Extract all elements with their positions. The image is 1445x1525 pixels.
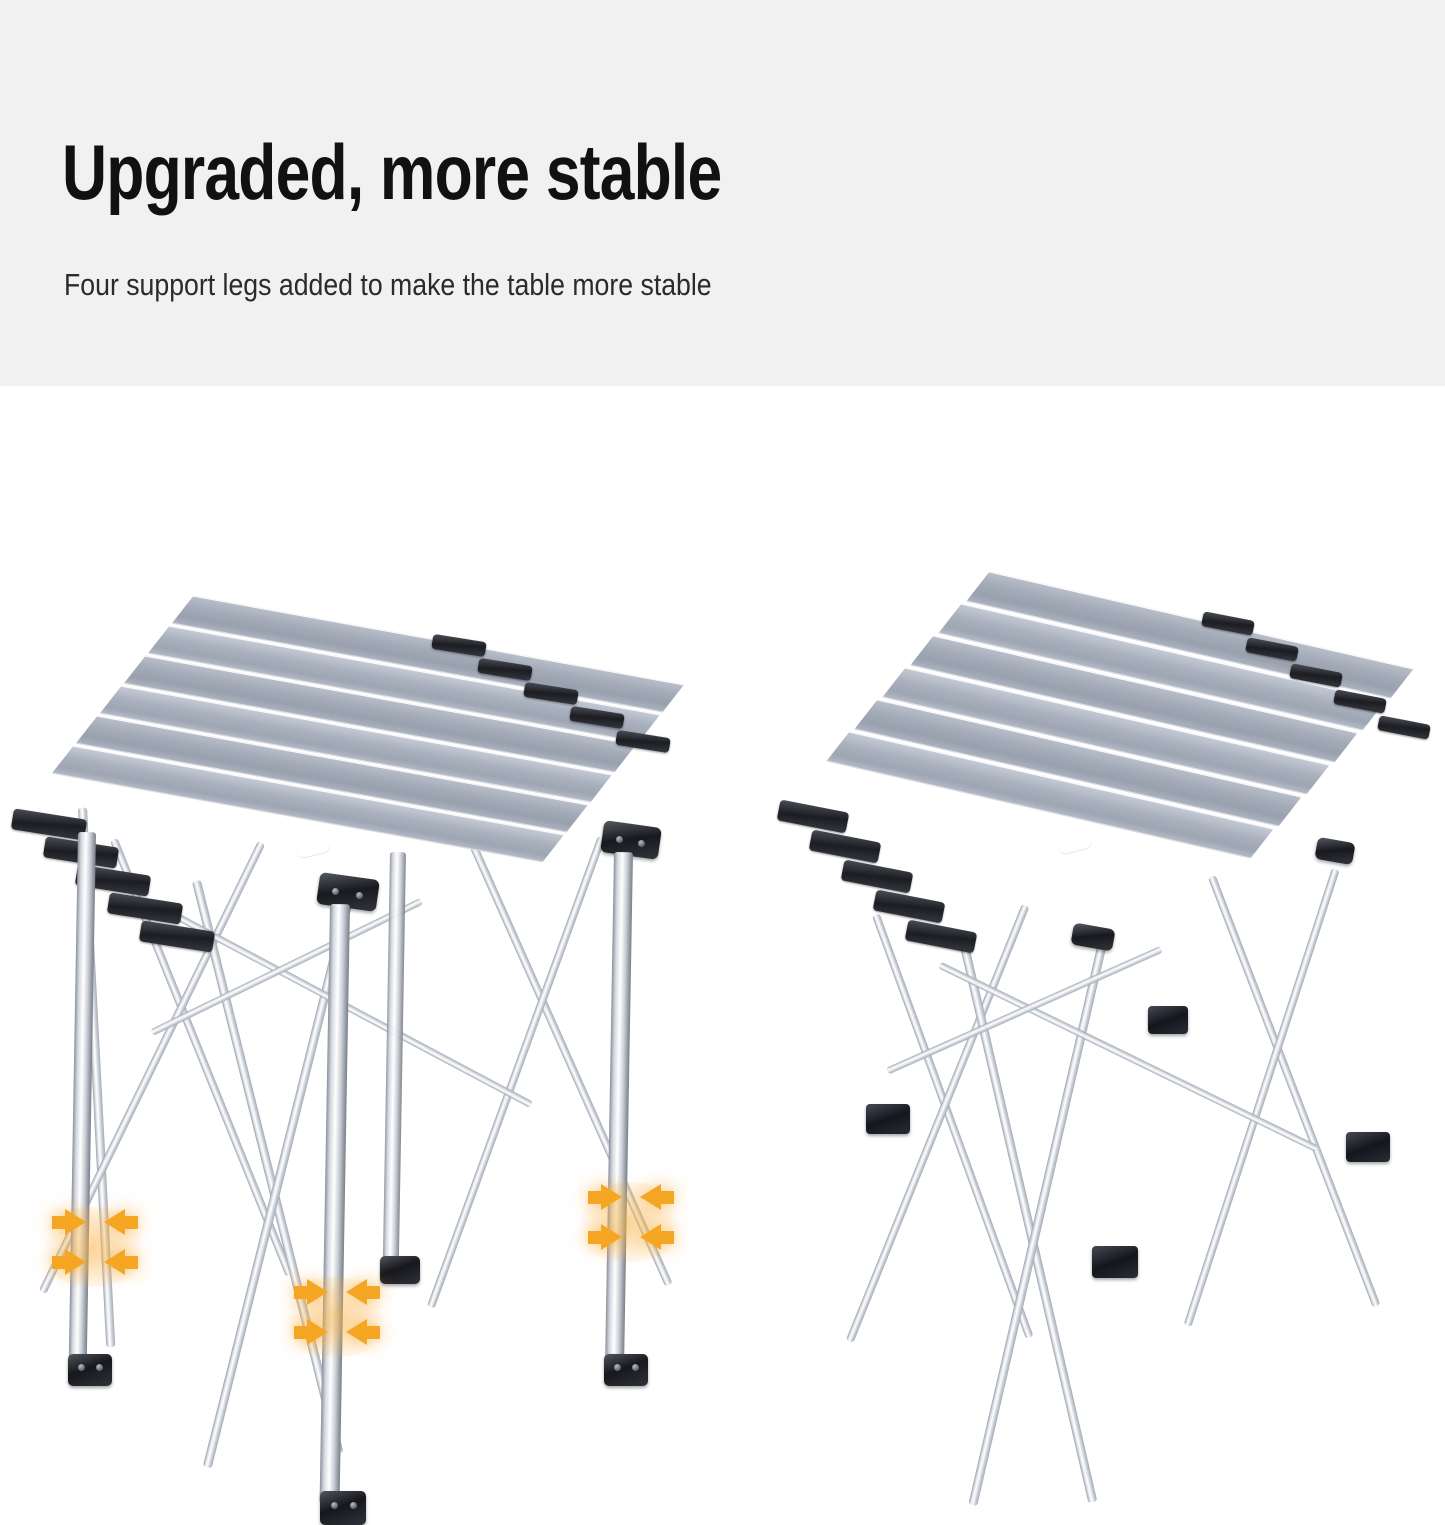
brand-logo-icon: [295, 838, 331, 860]
leg-foot-cap: [68, 1354, 112, 1386]
arrow-left-icon: [367, 1286, 380, 1299]
arrow-left-icon: [367, 1326, 380, 1339]
arrow-left-icon: [640, 1224, 661, 1250]
bracket-rivet: [356, 892, 363, 899]
foot-rivet: [331, 1502, 338, 1509]
slat-endcap: [809, 830, 882, 864]
leg-foot-cap: [604, 1354, 648, 1386]
bracket-rivet: [638, 840, 645, 847]
arrow-left-icon: [640, 1184, 661, 1210]
slat-endcap: [11, 808, 87, 840]
brand-logo-icon: [1057, 834, 1093, 856]
frame-tube: [958, 936, 1097, 1503]
slat-endcap: [1377, 715, 1431, 740]
arrow-left-icon: [346, 1319, 367, 1345]
frame-joint-cap: [1148, 1006, 1188, 1034]
arrow-right-icon: [601, 1184, 622, 1210]
leg-foot-cap: [866, 1104, 910, 1134]
arrow-right-icon: [65, 1249, 86, 1275]
arrow-cluster-left-leg: [30, 1201, 150, 1291]
arrow-right-icon: [52, 1256, 65, 1269]
vertical-support-leg: [605, 852, 633, 1362]
arrow-right-icon: [588, 1231, 601, 1244]
leg-foot-cap: [1346, 1132, 1390, 1162]
arrow-left-icon: [104, 1209, 125, 1235]
slat-endcap: [873, 890, 946, 924]
bracket-rivet: [616, 836, 623, 843]
slat-endcap: [777, 800, 850, 834]
arrow-cluster-center-leg: [272, 1271, 392, 1361]
foot-rivet: [78, 1364, 85, 1371]
foot-rivet: [614, 1364, 621, 1371]
arrow-left-icon: [104, 1249, 125, 1275]
arrow-cluster-right-leg: [566, 1176, 686, 1266]
bracket-rivet: [332, 888, 339, 895]
product-image-upgraded: [0, 636, 730, 1276]
arrow-right-icon: [601, 1224, 622, 1250]
frame-strut: [938, 962, 1319, 1152]
arrow-left-icon: [661, 1231, 674, 1244]
arrow-left-icon: [125, 1216, 138, 1229]
product-comparison-stage: [0, 386, 1445, 1275]
arrow-left-icon: [346, 1279, 367, 1305]
arrow-right-icon: [307, 1319, 328, 1345]
foot-rivet: [632, 1364, 639, 1371]
slat-endcap: [905, 920, 978, 954]
page-headline: Upgraded, more stable: [62, 130, 721, 214]
leg-foot-cap: [320, 1491, 366, 1525]
arrow-left-icon: [125, 1256, 138, 1269]
frame-hinge-bracket: [1070, 923, 1115, 952]
slat-endcap: [841, 860, 914, 894]
arrow-right-icon: [65, 1209, 86, 1235]
foot-rivet: [350, 1502, 357, 1509]
frame-strut: [150, 898, 423, 1036]
header-band: Upgraded, more stable Four support legs …: [0, 0, 1445, 386]
foot-rivet: [96, 1364, 103, 1371]
arrow-right-icon: [294, 1326, 307, 1339]
arrow-right-icon: [588, 1191, 601, 1204]
arrow-left-icon: [661, 1191, 674, 1204]
page-subheadline: Four support legs added to make the tabl…: [64, 266, 712, 304]
leg-foot-cap: [1092, 1246, 1138, 1278]
arrow-right-icon: [52, 1216, 65, 1229]
arrow-right-icon: [294, 1286, 307, 1299]
arrow-right-icon: [307, 1279, 328, 1305]
frame-tube: [1208, 875, 1380, 1307]
product-image-basic: [760, 616, 1445, 1276]
